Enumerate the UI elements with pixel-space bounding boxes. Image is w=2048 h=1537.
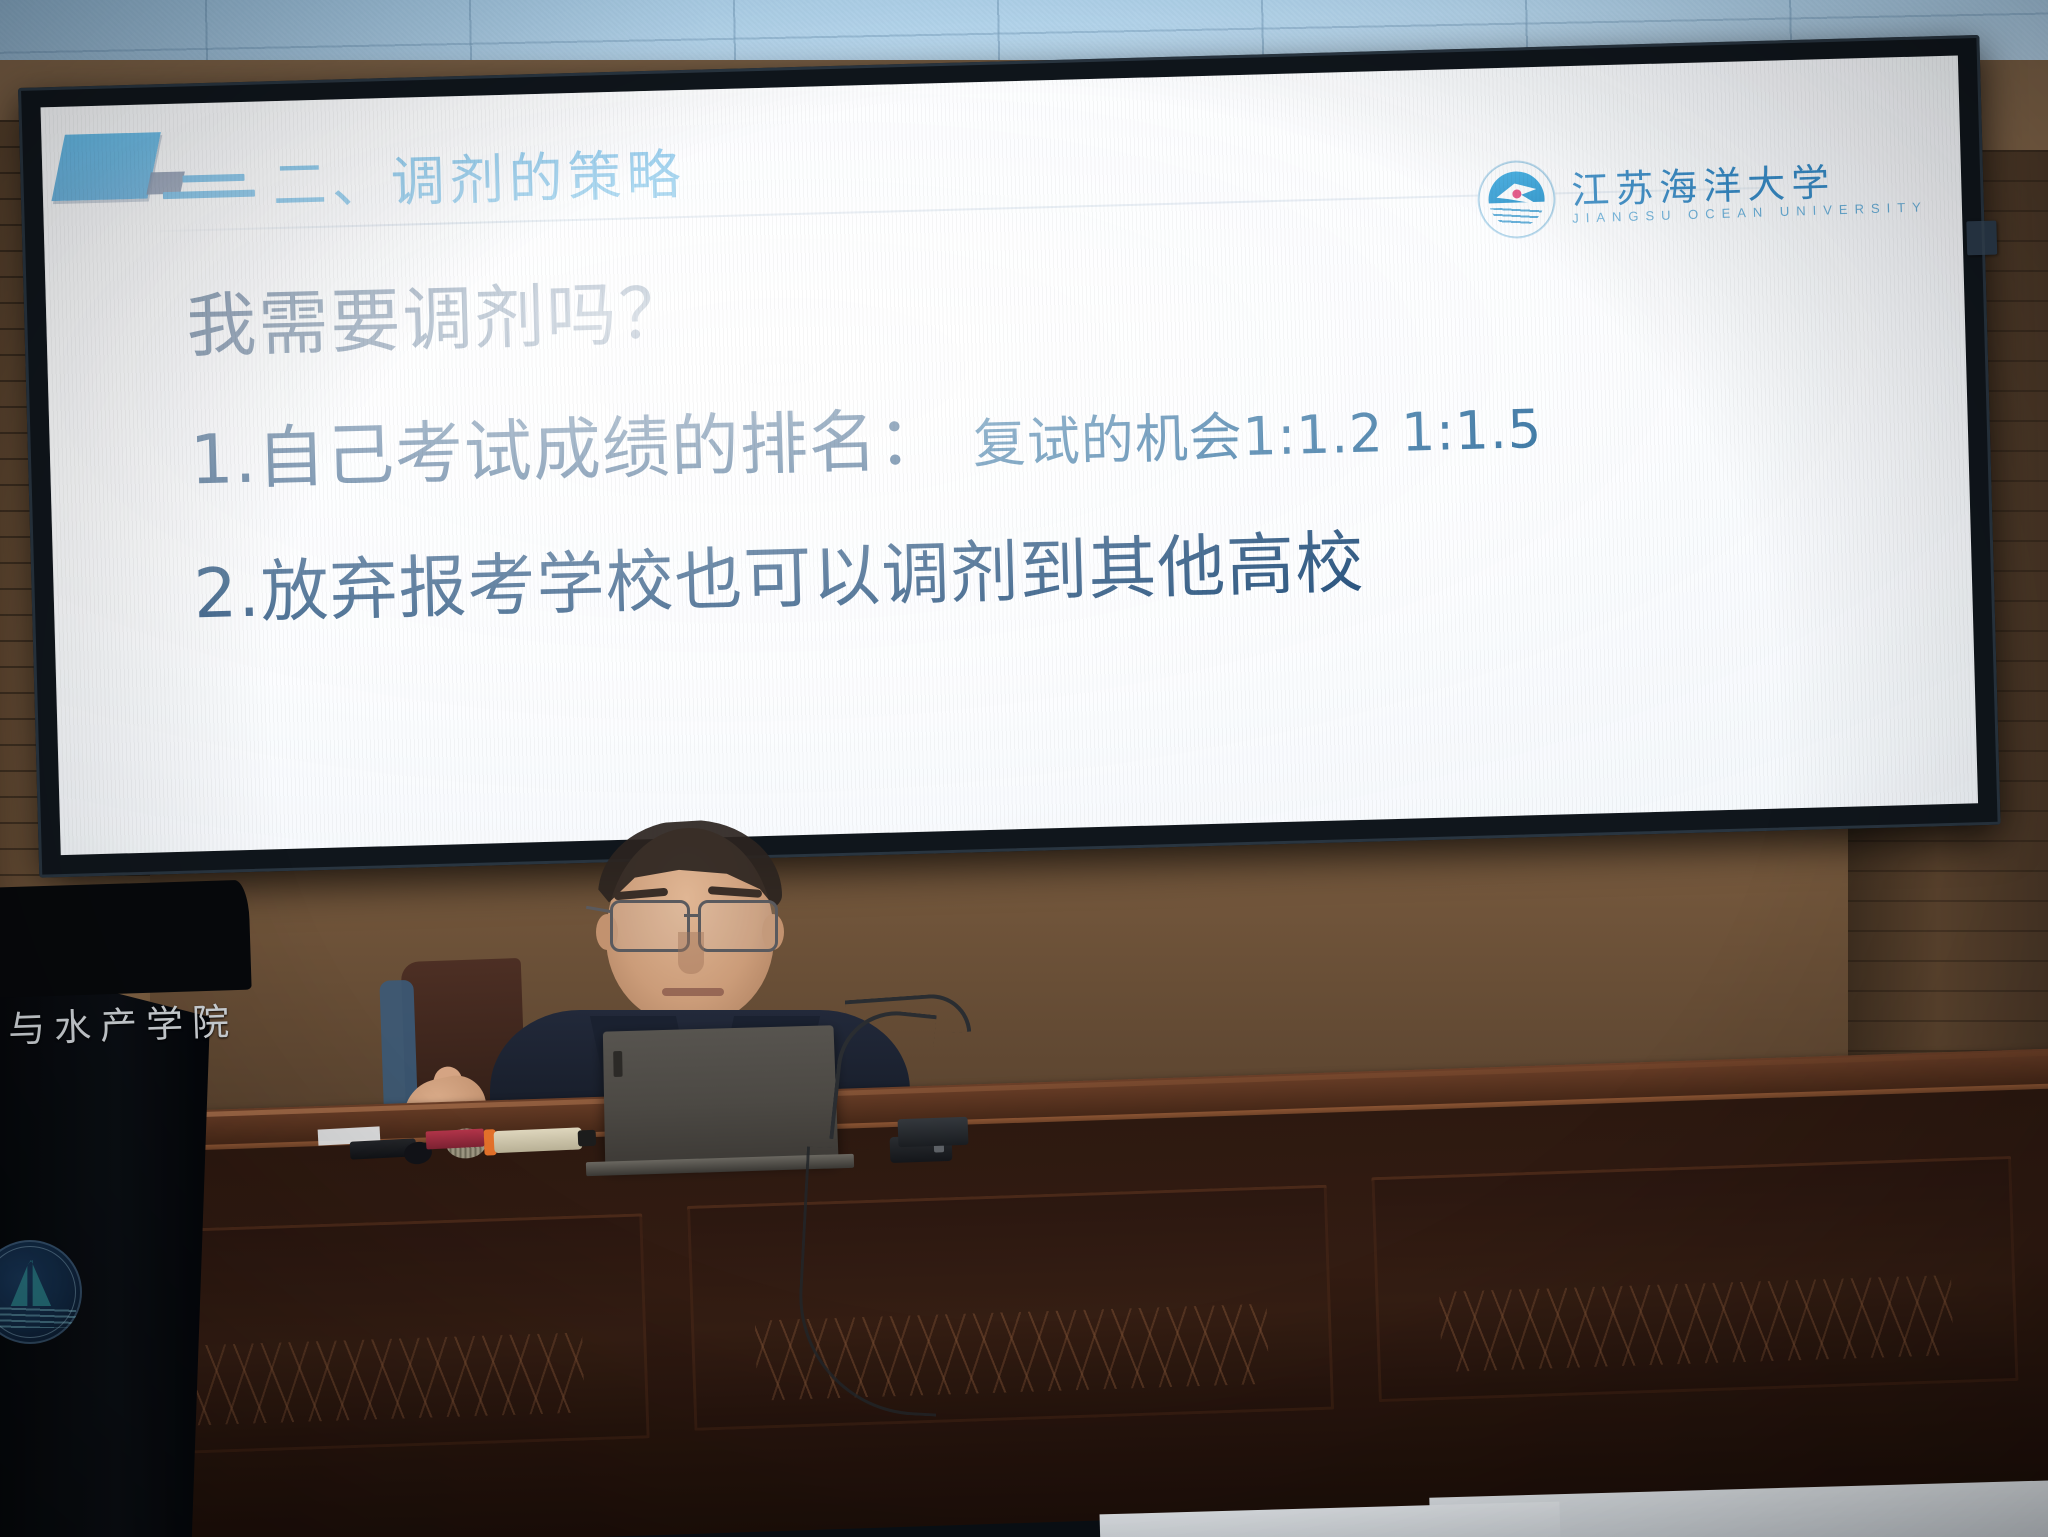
projection-screen: 二、调剂的策略 江苏海洋大学 JIANGSU OCEAN UNIVERSITY [41, 56, 1979, 856]
podium-label: 学与水产学院 [0, 991, 239, 1055]
bullet-2-number: 2. [193, 554, 262, 635]
slide-body: 我需要调剂吗？ 1.自己考试成绩的排名：复试的机会1:1.2 1:1.5 2.放… [186, 245, 1933, 630]
bullet-1-main: 自己考试成绩的排名： [256, 401, 948, 499]
microphone-body [494, 1127, 583, 1153]
glasses-bridge [684, 914, 700, 917]
podium-top [0, 880, 252, 999]
projection-screen-frame: 二、调剂的策略 江苏海洋大学 JIANGSU OCEAN UNIVERSITY [18, 35, 2001, 878]
microphone-tip [578, 1130, 597, 1147]
glasses-arm [586, 906, 612, 913]
desk-panel-3-inlay [1439, 1275, 1953, 1372]
bullet-2-main: 放弃报考学校也可以调剂到其他高校 [260, 524, 1366, 633]
university-seal-icon [1477, 159, 1557, 239]
laptop[interactable] [603, 1025, 839, 1166]
seal-ring [1478, 160, 1556, 238]
bullet-1-number: 1. [189, 420, 258, 501]
university-logo: 江苏海洋大学 JIANGSU OCEAN UNIVERSITY [1477, 147, 1929, 239]
glasses-lens-right [698, 900, 778, 952]
screenshot-stage: 二、调剂的策略 江苏海洋大学 JIANGSU OCEAN UNIVERSITY [0, 0, 2048, 1537]
slide-decoration-shape [51, 132, 160, 201]
slide-bullet-1: 1.自己考试成绩的排名：复试的机会1:1.2 1:1.5 [189, 380, 1928, 495]
speaker-mouth [662, 988, 724, 996]
slide-title-text: 二、调剂的策略 [272, 130, 687, 220]
speaker-nose [678, 932, 704, 974]
laptop-brand-badge [613, 1051, 622, 1077]
screen-edge-tab [1966, 221, 1997, 256]
recorder-box [898, 1117, 969, 1147]
slide-question: 我需要调剂吗？ [186, 245, 1925, 362]
slide-bullet-2: 2.放弃报考学校也可以调剂到其他高校 [193, 514, 1932, 629]
university-name: 江苏海洋大学 JIANGSU OCEAN UNIVERSITY [1571, 160, 1928, 224]
red-folder [426, 1128, 485, 1149]
bullet-1-sub: 复试的机会1:1.2 1:1.5 [972, 399, 1543, 475]
title-accent-bars [162, 166, 255, 199]
desk-panel-2 [687, 1185, 1334, 1431]
desk-front-face [0, 1087, 2048, 1537]
podium: 学与水产学院 [0, 884, 250, 1537]
desk-panel-3 [1371, 1156, 2018, 1402]
slide-title: 二、调剂的策略 [162, 130, 687, 223]
